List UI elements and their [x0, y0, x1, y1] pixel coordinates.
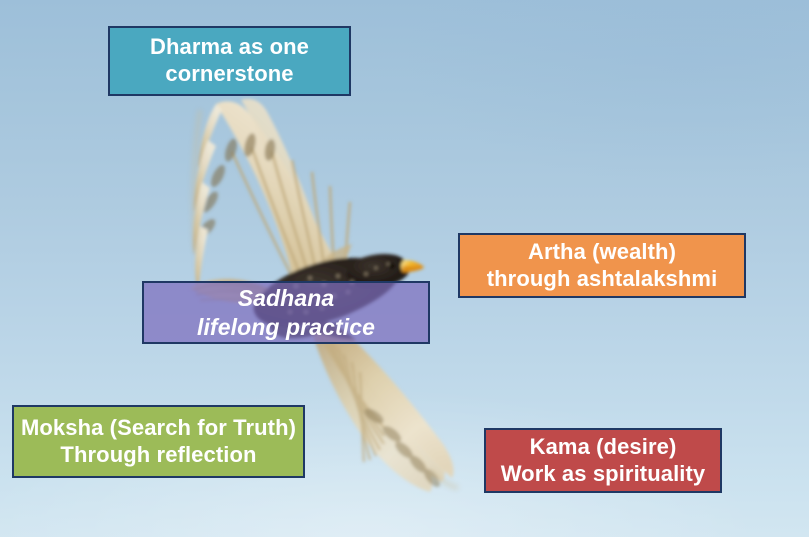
dharma-line-1: Dharma as one — [150, 34, 309, 61]
textbox-artha[interactable]: Artha (wealth) through ashtalakshmi — [458, 233, 746, 298]
dharma-line-2: cornerstone — [165, 61, 293, 88]
moksha-line-2: Through reflection — [60, 442, 256, 469]
textbox-sadhana[interactable]: Sadhana lifelong practice — [142, 281, 430, 344]
bird-lower-wing — [306, 318, 454, 492]
textbox-moksha[interactable]: Moksha (Search for Truth) Through reflec… — [12, 405, 305, 478]
bird-beak — [401, 260, 424, 272]
slide-canvas: Dharma as one cornerstone Artha (wealth)… — [0, 0, 809, 537]
textbox-dharma[interactable]: Dharma as one cornerstone — [108, 26, 351, 96]
sadhana-line-1: Sadhana — [238, 284, 335, 312]
artha-line-2: through ashtalakshmi — [487, 266, 718, 293]
sadhana-line-2: lifelong practice — [197, 313, 375, 341]
kama-line-2: Work as spirituality — [501, 461, 706, 488]
textbox-kama[interactable]: Kama (desire) Work as spirituality — [484, 428, 722, 493]
moksha-line-1: Moksha (Search for Truth) — [21, 415, 296, 442]
artha-line-1: Artha (wealth) — [528, 239, 676, 266]
kama-line-1: Kama (desire) — [530, 434, 677, 461]
